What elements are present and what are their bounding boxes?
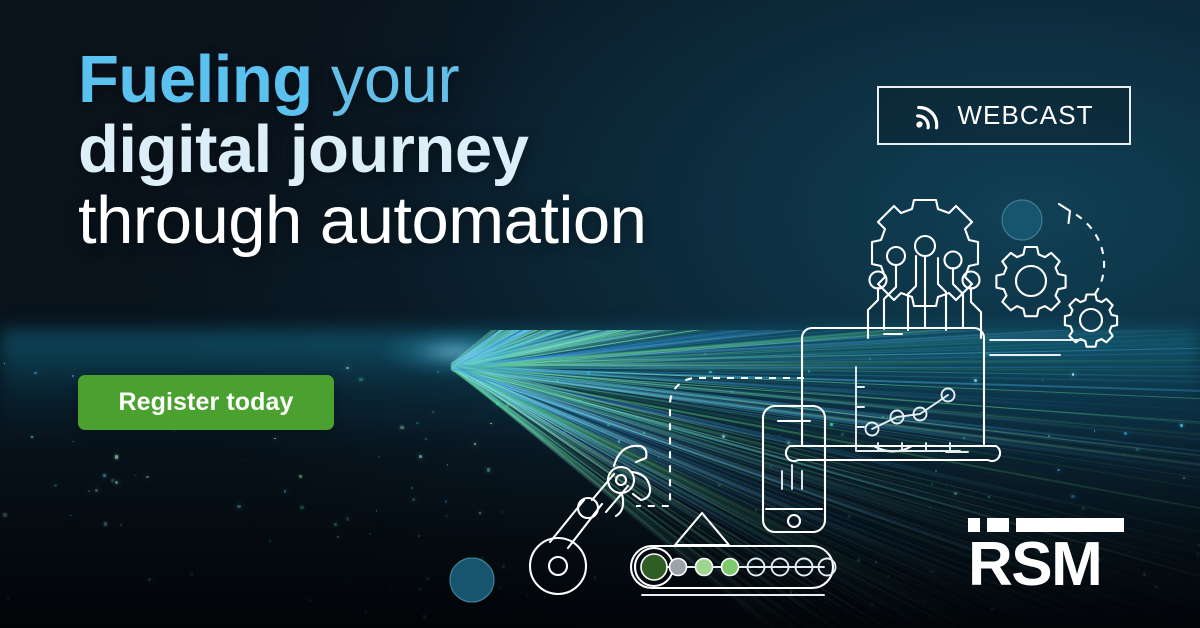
- headline-line-1: Fueling your: [78, 46, 646, 114]
- register-today-button[interactable]: Register today: [78, 375, 334, 430]
- rsm-wordmark: RSM: [968, 540, 1124, 591]
- marketing-banner: Fueling your digital journey through aut…: [0, 0, 1200, 628]
- headline-line-3: through automation: [78, 187, 646, 255]
- rsm-logo: RSM: [968, 518, 1124, 591]
- headline-word-fueling: Fueling: [78, 42, 313, 117]
- webcast-badge: WEBCAST: [877, 86, 1131, 145]
- rss-broadcast-icon: [913, 101, 947, 131]
- webcast-label: WEBCAST: [957, 100, 1093, 131]
- headline: Fueling your digital journey through aut…: [78, 46, 646, 255]
- headline-line-2: digital journey: [78, 116, 646, 184]
- headline-word-your: your: [331, 42, 459, 117]
